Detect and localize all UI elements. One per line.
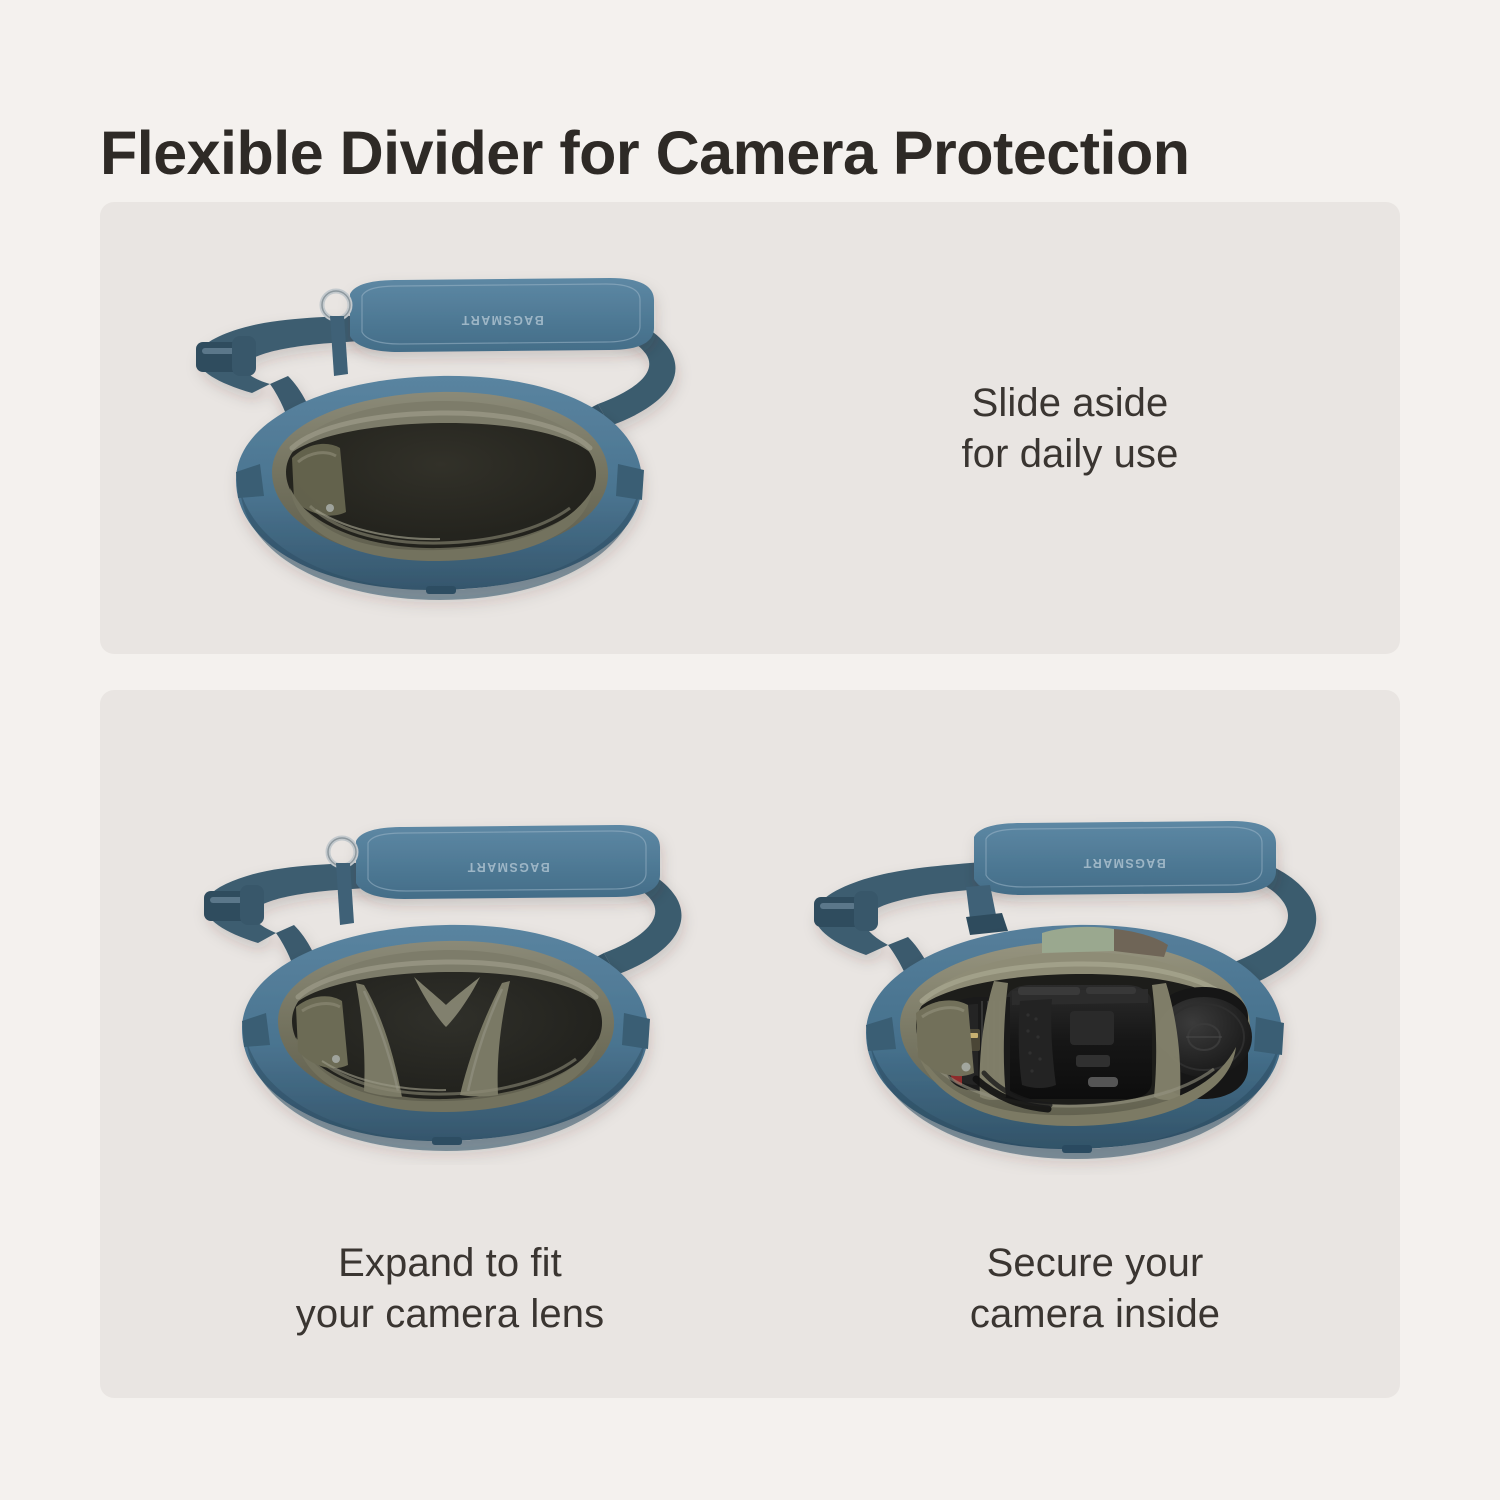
caption-line-2: camera inside xyxy=(870,1289,1320,1340)
brand-label: BAGSMART xyxy=(1082,856,1165,870)
infographic-page: Flexible Divider for Camera Protection xyxy=(0,0,1500,1500)
strap-buckle xyxy=(814,891,878,931)
caption-secure-camera: Secure your camera inside xyxy=(870,1238,1320,1340)
strap-buckle xyxy=(204,885,264,925)
shoulder-pad: BAGSMART xyxy=(356,825,660,899)
caption-line-2: for daily use xyxy=(860,429,1280,480)
caption-expand-to-fit: Expand to fit your camera lens xyxy=(200,1238,700,1340)
shoulder-pad: BAGSMART xyxy=(974,821,1276,895)
caption-line-1: Slide aside xyxy=(860,378,1280,429)
caption-line-2: your camera lens xyxy=(200,1289,700,1340)
product-photo-slide-aside: BAGSMART xyxy=(140,258,720,618)
caption-slide-aside: Slide aside for daily use xyxy=(860,378,1280,480)
brand-label: BAGSMART xyxy=(466,860,549,874)
shoulder-pad: BAGSMART xyxy=(350,278,654,352)
product-photo-secure-camera: BAGSMART xyxy=(770,805,1350,1175)
page-title: Flexible Divider for Camera Protection xyxy=(100,119,1420,187)
caption-line-1: Secure your xyxy=(870,1238,1320,1289)
strap-buckle xyxy=(196,336,256,376)
product-photo-expand-divider: BAGSMART xyxy=(150,805,720,1165)
caption-line-1: Expand to fit xyxy=(200,1238,700,1289)
dslr-camera-body xyxy=(1006,985,1152,1099)
brand-label: BAGSMART xyxy=(460,313,543,327)
